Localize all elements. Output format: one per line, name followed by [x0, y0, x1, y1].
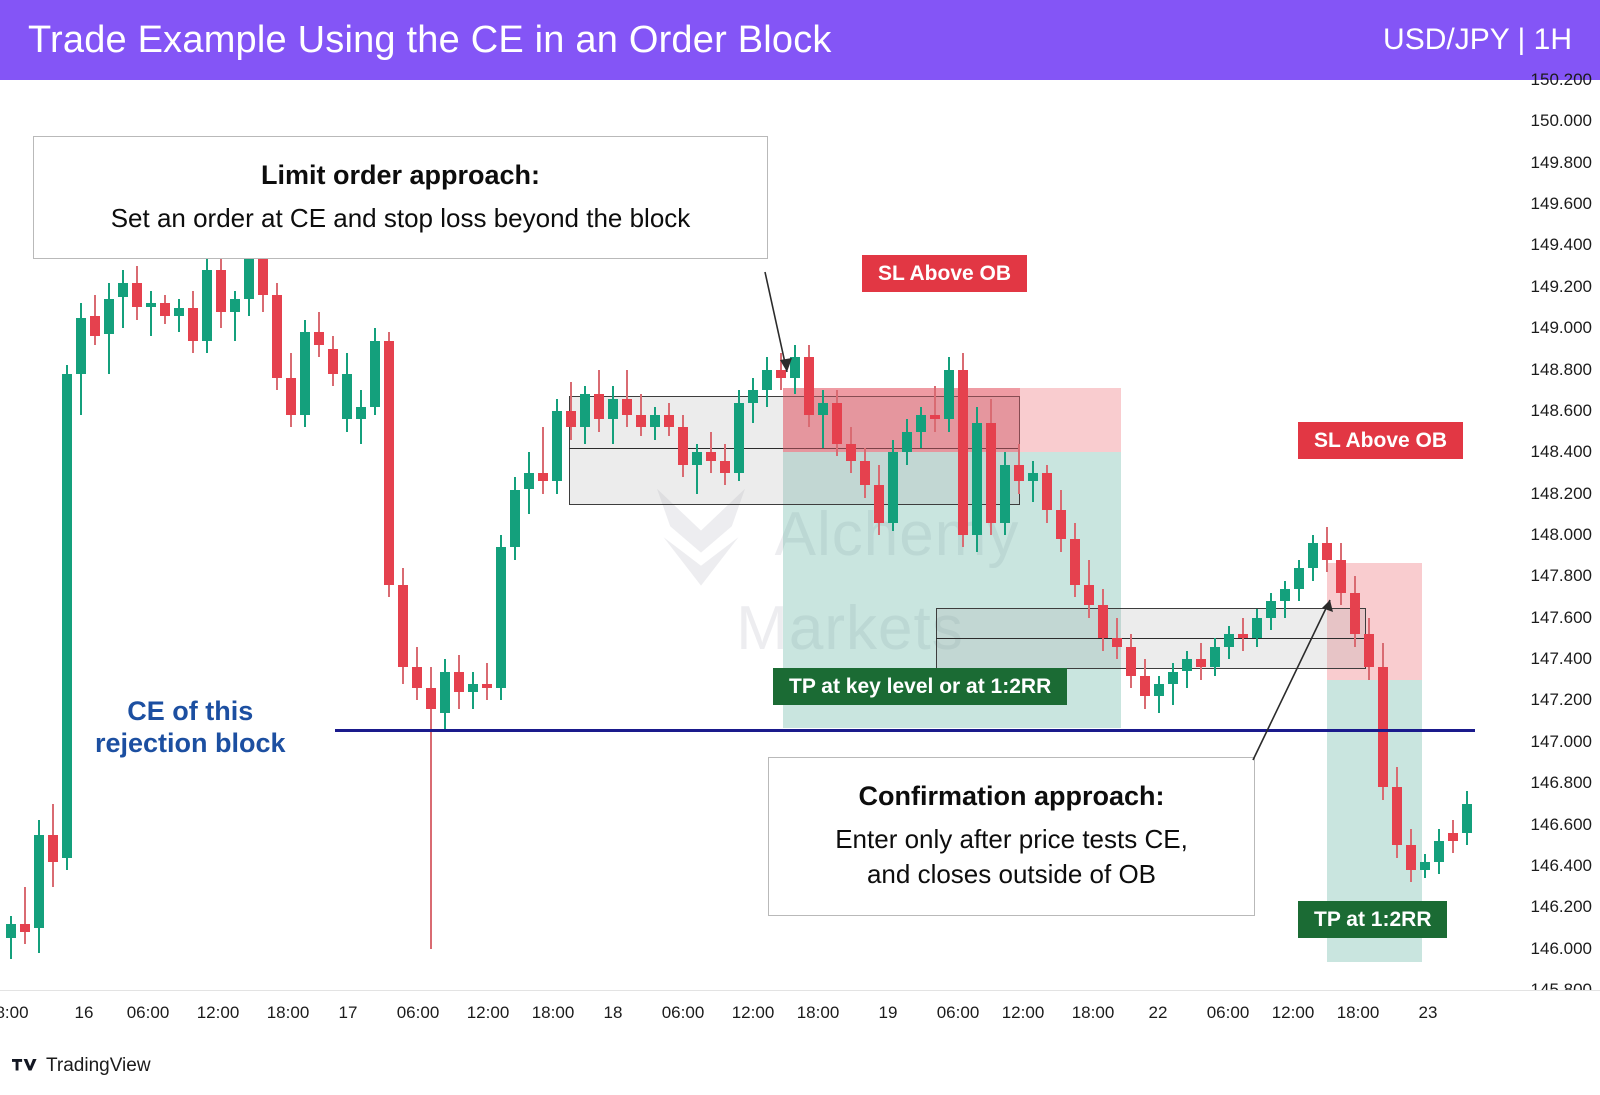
- time-tick: 06:00: [662, 1003, 705, 1023]
- price-tick: 150.200: [1531, 70, 1592, 90]
- candle-body[interactable]: [34, 835, 44, 928]
- price-axis[interactable]: 150.200150.000149.800149.600149.400149.2…: [1475, 80, 1600, 990]
- candle-body[interactable]: [20, 924, 30, 932]
- tp-badge-2[interactable]: TP at 1:2RR: [1298, 901, 1447, 938]
- candle-body[interactable]: [328, 349, 338, 374]
- candle-body[interactable]: [62, 374, 72, 858]
- time-tick: 18:00: [1337, 1003, 1380, 1023]
- candle-body[interactable]: [748, 390, 758, 402]
- candle-body[interactable]: [510, 490, 520, 548]
- candle-body[interactable]: [314, 332, 324, 344]
- candle-body[interactable]: [902, 432, 912, 453]
- candle-body[interactable]: [342, 374, 352, 420]
- candle-body[interactable]: [272, 295, 282, 378]
- candle-body[interactable]: [1154, 684, 1164, 696]
- price-tick: 150.000: [1531, 111, 1592, 131]
- candle-body[interactable]: [440, 672, 450, 713]
- time-tick: 12:00: [732, 1003, 775, 1023]
- candle-body[interactable]: [664, 415, 674, 427]
- candle-body[interactable]: [1322, 543, 1332, 560]
- candle-body[interactable]: [1070, 539, 1080, 585]
- candle-body[interactable]: [706, 452, 716, 460]
- candle-body[interactable]: [398, 585, 408, 668]
- candle-body[interactable]: [1434, 841, 1444, 862]
- candle-body[interactable]: [944, 370, 954, 420]
- ce-main-line: [335, 729, 1475, 732]
- price-tick: 149.600: [1531, 194, 1592, 214]
- candle-body[interactable]: [874, 485, 884, 522]
- price-tick: 149.400: [1531, 235, 1592, 255]
- candle-body[interactable]: [6, 924, 16, 938]
- candle-body[interactable]: [1252, 618, 1262, 639]
- candle-body[interactable]: [1098, 605, 1108, 638]
- candle-body[interactable]: [426, 688, 436, 709]
- price-tick: 147.800: [1531, 566, 1592, 586]
- candle-body[interactable]: [846, 444, 856, 461]
- tradingview-logo-icon: [12, 1057, 38, 1074]
- candle-body[interactable]: [1210, 647, 1220, 668]
- ob-box-2-ce-line: [936, 638, 1366, 639]
- candle-body[interactable]: [804, 357, 814, 415]
- time-tick: 18: [604, 1003, 623, 1023]
- time-tick: 19: [879, 1003, 898, 1023]
- candle-body[interactable]: [370, 341, 380, 407]
- limit-order-callout[interactable]: Limit order approach:Set an order at CE …: [33, 136, 768, 259]
- candle-wick: [542, 427, 544, 493]
- candle-body[interactable]: [1266, 601, 1276, 618]
- chart-footer: TradingView: [0, 1036, 1600, 1095]
- candle-wick: [822, 390, 824, 448]
- symbol-timeframe-label: USD/JPY | 1H: [1383, 23, 1572, 57]
- time-tick: 16: [75, 1003, 94, 1023]
- candle-body[interactable]: [958, 370, 968, 535]
- price-tick: 148.400: [1531, 442, 1592, 462]
- candle-body[interactable]: [1294, 568, 1304, 589]
- candle-body[interactable]: [1126, 647, 1136, 676]
- candle-body[interactable]: [1028, 473, 1038, 481]
- candle-body[interactable]: [160, 303, 170, 315]
- candle-body[interactable]: [1448, 833, 1458, 841]
- candle-body[interactable]: [888, 452, 898, 522]
- candle-body[interactable]: [300, 332, 310, 415]
- candle-body[interactable]: [468, 684, 478, 692]
- confirmation-callout-title: Confirmation approach:: [795, 780, 1228, 812]
- candle-body[interactable]: [1420, 862, 1430, 870]
- confirmation-callout[interactable]: Confirmation approach:Enter only after p…: [768, 757, 1255, 916]
- price-tick: 147.400: [1531, 649, 1592, 669]
- price-tick: 147.000: [1531, 732, 1592, 752]
- price-tick: 149.000: [1531, 318, 1592, 338]
- candle-body[interactable]: [734, 403, 744, 473]
- candle-body[interactable]: [986, 423, 996, 522]
- candle-body[interactable]: [1392, 787, 1402, 845]
- time-axis[interactable]: 8:001606:0012:0018:001706:0012:0018:0018…: [0, 990, 1600, 1036]
- time-tick: 23: [1419, 1003, 1438, 1023]
- candle-body[interactable]: [650, 415, 660, 427]
- candle-wick: [934, 386, 936, 432]
- candle-body[interactable]: [496, 547, 506, 688]
- candle-wick: [486, 663, 488, 700]
- limit-order-callout-body-line: Set an order at CE and stop loss beyond …: [60, 201, 741, 236]
- candle-body[interactable]: [720, 461, 730, 473]
- page-header: Trade Example Using the CE in an Order B…: [0, 0, 1600, 80]
- candle-body[interactable]: [90, 316, 100, 337]
- limit-order-callout-title: Limit order approach:: [60, 159, 741, 191]
- candle-body[interactable]: [636, 415, 646, 427]
- candle-wick: [122, 270, 124, 328]
- candle-body[interactable]: [1196, 659, 1206, 667]
- candle-body[interactable]: [104, 299, 114, 334]
- candle-body[interactable]: [230, 299, 240, 311]
- candle-wick: [24, 887, 26, 945]
- price-tick: 148.600: [1531, 401, 1592, 421]
- price-tick: 146.200: [1531, 897, 1592, 917]
- candle-body[interactable]: [202, 270, 212, 340]
- candle-body[interactable]: [1042, 473, 1052, 510]
- candle-body[interactable]: [132, 283, 142, 308]
- time-tick: 06:00: [397, 1003, 440, 1023]
- candle-body[interactable]: [1280, 589, 1290, 601]
- time-tick: 12:00: [1272, 1003, 1315, 1023]
- time-tick: 18:00: [797, 1003, 840, 1023]
- time-tick: 18:00: [1072, 1003, 1115, 1023]
- candle-wick: [430, 667, 432, 948]
- ce-label-line-1: CE of this: [127, 696, 253, 726]
- time-tick: 12:00: [1002, 1003, 1045, 1023]
- candle-body[interactable]: [1364, 634, 1374, 667]
- candle-body[interactable]: [524, 473, 534, 490]
- candle-body[interactable]: [552, 411, 562, 481]
- candle-body[interactable]: [1462, 804, 1472, 833]
- candle-body[interactable]: [1056, 510, 1066, 539]
- price-tick: 146.400: [1531, 856, 1592, 876]
- candle-body[interactable]: [384, 341, 394, 585]
- candle-body[interactable]: [1406, 845, 1416, 870]
- candle-body[interactable]: [832, 403, 842, 444]
- candle-body[interactable]: [1350, 593, 1360, 634]
- candle-body[interactable]: [1378, 667, 1388, 787]
- candle-body[interactable]: [1168, 672, 1178, 684]
- time-tick: 12:00: [197, 1003, 240, 1023]
- candle-body[interactable]: [1182, 659, 1192, 671]
- candle-body[interactable]: [1112, 638, 1122, 646]
- time-tick: 06:00: [937, 1003, 980, 1023]
- candle-body[interactable]: [538, 473, 548, 481]
- confirmation-callout-body-line: Enter only after price tests CE,: [795, 822, 1228, 857]
- candle-body[interactable]: [692, 452, 702, 464]
- candle-body[interactable]: [216, 270, 226, 311]
- time-tick: 18:00: [267, 1003, 310, 1023]
- candle-body[interactable]: [188, 308, 198, 341]
- candle-body[interactable]: [678, 427, 688, 464]
- price-tick: 148.800: [1531, 360, 1592, 380]
- candle-body[interactable]: [972, 423, 982, 535]
- candle-body[interactable]: [1238, 634, 1248, 638]
- tradingview-brand-label: TradingView: [46, 1055, 151, 1077]
- sl-badge-2[interactable]: SL Above OB: [1298, 422, 1463, 459]
- candle-body[interactable]: [356, 407, 366, 419]
- candle-body[interactable]: [174, 308, 184, 316]
- candle-body[interactable]: [118, 283, 128, 297]
- candle-body[interactable]: [818, 403, 828, 415]
- price-tick: 146.800: [1531, 773, 1592, 793]
- candle-body[interactable]: [1140, 676, 1150, 697]
- candle-body[interactable]: [1000, 465, 1010, 523]
- candle-body[interactable]: [76, 318, 86, 374]
- ce-label-line-2: rejection block: [95, 728, 286, 758]
- candle-body[interactable]: [454, 672, 464, 693]
- candle-body[interactable]: [580, 394, 590, 427]
- confirmation-callout-body-line: and closes outside of OB: [795, 857, 1228, 892]
- price-tick: 148.200: [1531, 484, 1592, 504]
- time-tick: 12:00: [467, 1003, 510, 1023]
- candle-body[interactable]: [608, 399, 618, 420]
- time-tick: 18:00: [532, 1003, 575, 1023]
- candle-body[interactable]: [1224, 634, 1234, 646]
- price-tick: 148.000: [1531, 525, 1592, 545]
- candle-body[interactable]: [790, 357, 800, 378]
- candle-body[interactable]: [930, 415, 940, 419]
- price-tick: 149.200: [1531, 277, 1592, 297]
- candle-body[interactable]: [594, 394, 604, 419]
- candle-body[interactable]: [1308, 543, 1318, 568]
- candle-body[interactable]: [48, 835, 58, 862]
- price-tick: 146.000: [1531, 939, 1592, 959]
- candle-body[interactable]: [286, 378, 296, 415]
- candle-body[interactable]: [860, 461, 870, 486]
- candle-body[interactable]: [622, 399, 632, 416]
- candle-body[interactable]: [1336, 560, 1346, 593]
- candle-body[interactable]: [1014, 465, 1024, 482]
- candle-body[interactable]: [566, 411, 576, 428]
- price-tick: 147.200: [1531, 690, 1592, 710]
- candle-body[interactable]: [762, 370, 772, 391]
- candle-body[interactable]: [412, 667, 422, 688]
- candle-wick: [150, 291, 152, 337]
- page-title: Trade Example Using the CE in an Order B…: [28, 19, 832, 62]
- candle-body[interactable]: [776, 370, 786, 378]
- candle-body[interactable]: [146, 303, 156, 307]
- sl-badge-1[interactable]: SL Above OB: [862, 255, 1027, 292]
- time-tick: 22: [1149, 1003, 1168, 1023]
- time-tick: 8:00: [0, 1003, 29, 1023]
- price-tick: 146.600: [1531, 815, 1592, 835]
- price-tick: 149.800: [1531, 153, 1592, 173]
- ce-rejection-block-label: CE of this rejection block: [95, 696, 286, 760]
- candle-body[interactable]: [916, 415, 926, 432]
- time-tick: 06:00: [1207, 1003, 1250, 1023]
- candle-body[interactable]: [1084, 585, 1094, 606]
- candle-body[interactable]: [482, 684, 492, 688]
- price-tick: 147.600: [1531, 608, 1592, 628]
- tp-badge-1[interactable]: TP at key level or at 1:2RR: [773, 668, 1067, 705]
- time-tick: 17: [339, 1003, 358, 1023]
- time-tick: 06:00: [127, 1003, 170, 1023]
